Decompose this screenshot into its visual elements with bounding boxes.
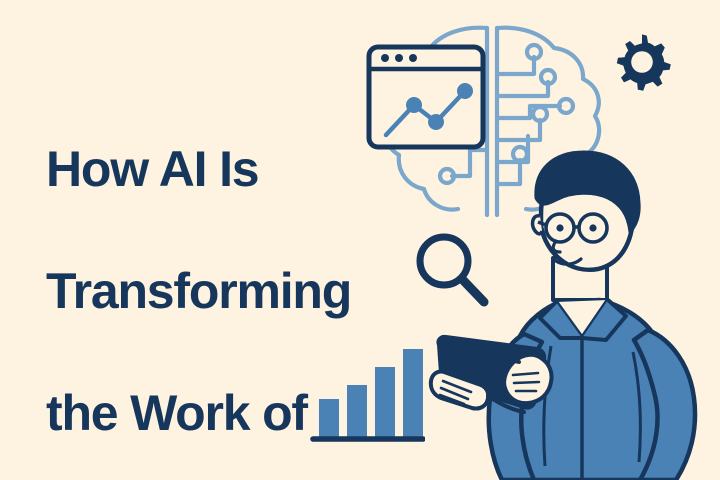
headline-line-2: Transforming — [46, 261, 446, 322]
page-title: How AI Is Transforming the Work of Data … — [46, 78, 446, 480]
poster-canvas: How AI Is Transforming the Work of Data … — [0, 0, 720, 480]
headline-line-3: the Work of — [46, 383, 446, 444]
headline-line-1: How AI Is — [46, 139, 446, 200]
